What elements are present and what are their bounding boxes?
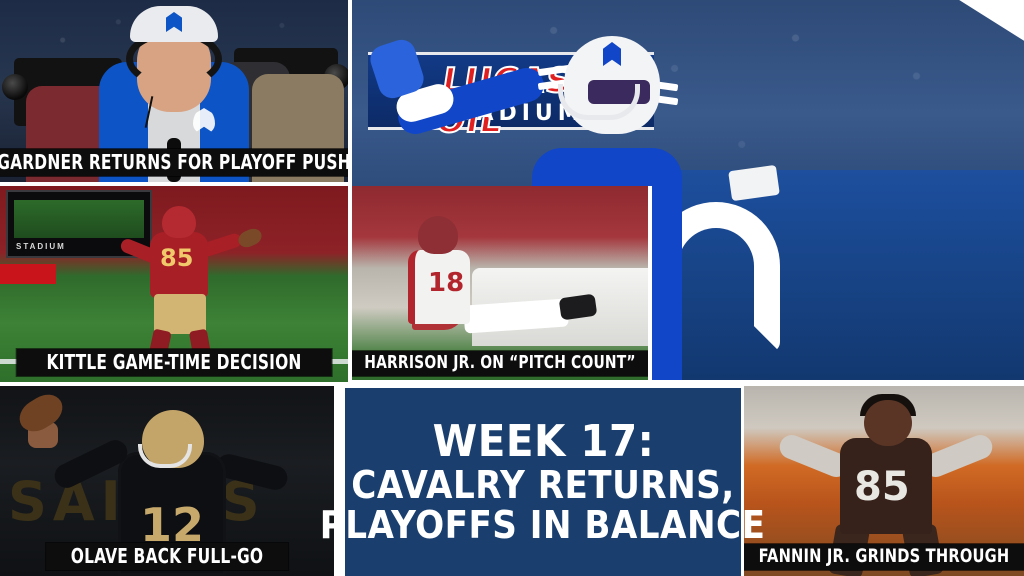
- gutter-vertical-mid: [648, 186, 652, 386]
- news-collage-graphic: GARDNER RETURNS FOR PLAYOFF PUSH LUCAS O…: [0, 0, 1024, 576]
- caption-gardner: GARDNER RETURNS FOR PLAYOFF PUSH: [0, 149, 348, 176]
- title-line-2: CAVALRY RETURNS,: [351, 466, 734, 504]
- caption-harrison-text: HARRISON JR. ON “PITCH COUNT”: [364, 354, 636, 372]
- caption-fannin: FANNIN JR. GRINDS THROUGH: [744, 544, 1024, 570]
- panel-fannin[interactable]: 85 FANNIN JR. GRINDS THROUGH: [744, 386, 1024, 576]
- player-pants: [154, 294, 206, 334]
- caption-kittle-text: KITTLE GAME-TIME DECISION: [46, 352, 301, 372]
- caption-olave-text: OLAVE BACK FULL-GO: [71, 546, 263, 566]
- caption-gardner-text: GARDNER RETURNS FOR PLAYOFF PUSH: [0, 152, 348, 172]
- gutter-vertical-title-right: [741, 386, 744, 576]
- gutter-vertical-left: [348, 0, 352, 386]
- sideline-ad-board: [0, 264, 56, 284]
- player-helmet: [162, 206, 196, 238]
- caption-fannin-text: FANNIN JR. GRINDS THROUGH: [759, 547, 1010, 566]
- title-card: WEEK 17: CAVALRY RETURNS, PLAYOFFS IN BA…: [345, 388, 741, 576]
- coach-cap: [130, 6, 218, 42]
- gutter-horizontal-2: [0, 382, 348, 386]
- gutter-horizontal-1: [0, 182, 348, 186]
- player-head: [864, 400, 912, 446]
- gutter-horizontal-3: [352, 380, 1024, 386]
- gutter-vertical-title-left: [334, 386, 345, 576]
- caption-olave: OLAVE BACK FULL-GO: [46, 543, 288, 570]
- panel-harrison[interactable]: 18 HARRISON JR. ON “PITCH COUNT”: [352, 186, 648, 382]
- title-line-1: WEEK 17:: [432, 420, 654, 464]
- player-helmet: [418, 216, 458, 254]
- panel-gardner[interactable]: GARDNER RETURNS FOR PLAYOFF PUSH: [0, 0, 348, 182]
- caption-harrison: HARRISON JR. ON “PITCH COUNT”: [352, 351, 648, 376]
- caption-kittle: KITTLE GAME-TIME DECISION: [17, 349, 332, 376]
- title-line-3: PLAYOFFS IN BALANCE: [320, 506, 766, 544]
- panel-olave[interactable]: SAINTS 12 OLAVE BACK FULL-GO: [0, 386, 334, 576]
- panel-kittle[interactable]: 85 KITTLE GAME-TIME DECISION: [0, 186, 348, 382]
- player-jersey-number: 18: [428, 268, 464, 298]
- player-jersey-number: 85: [854, 464, 910, 510]
- player-jersey-number: 85: [160, 244, 193, 272]
